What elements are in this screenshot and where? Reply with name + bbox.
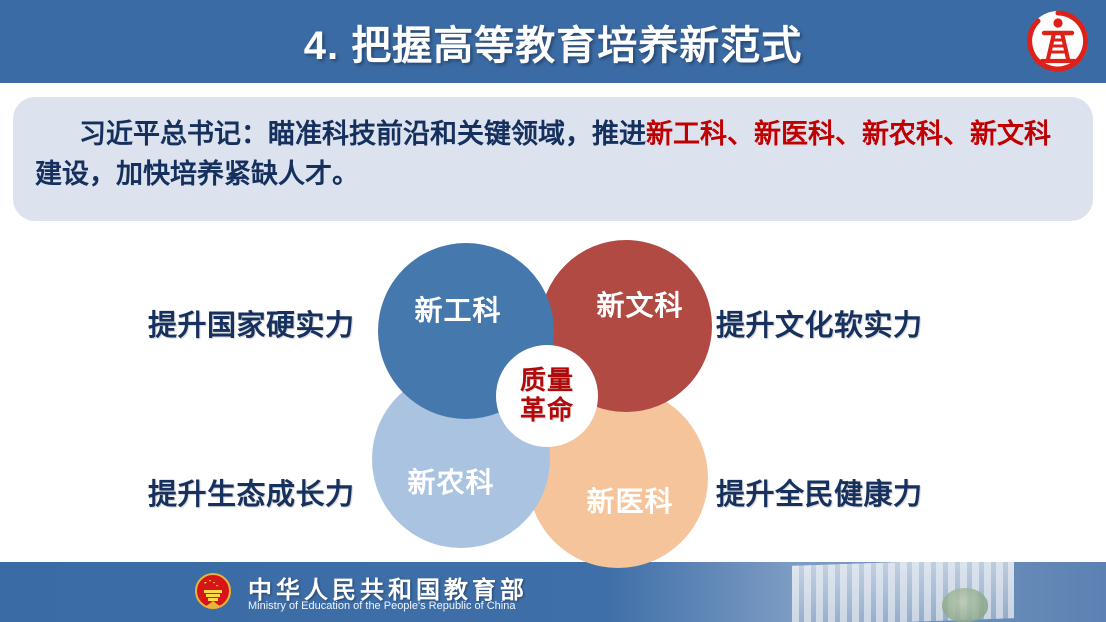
- quote-suffix: 建设，加快培养紧缺人才。: [35, 159, 359, 189]
- side-label-eco-growth: 提升生态成长力: [148, 471, 355, 513]
- tower-emblem-logo: [1024, 7, 1092, 75]
- diagram-core-quality-revolution: 质量 革命: [496, 345, 598, 447]
- slide-footer: 中华人民共和国教育部 Ministry of Education of the …: [0, 562, 1106, 622]
- quote-prefix: 习近平总书记：瞄准科技前沿和关键领域，推进: [79, 119, 646, 149]
- circle-label-new-agriculture: 新农科: [407, 461, 494, 501]
- circle-label-new-engineering: 新工科: [414, 289, 501, 329]
- circle-label-new-medicine: 新医科: [586, 480, 673, 520]
- quote-panel: 习近平总书记：瞄准科技前沿和关键领域，推进新工科、新医科、新农科、新文科建设，加…: [13, 97, 1093, 221]
- quote-text: 习近平总书记：瞄准科技前沿和关键领域，推进新工科、新医科、新农科、新文科建设，加…: [35, 115, 1071, 195]
- slide-header: 4. 把握高等教育培养新范式: [0, 0, 1106, 83]
- circle-label-new-liberal-arts: 新文科: [596, 284, 683, 324]
- side-label-public-health: 提升全民健康力: [716, 471, 923, 513]
- core-line-2: 革命: [520, 396, 574, 426]
- quote-highlight: 新工科、新医科、新农科、新文科: [646, 119, 1051, 149]
- four-disciplines-diagram: 提升国家硬实力 提升文化软实力 提升生态成长力 提升全民健康力 新文科 新医科 …: [0, 228, 1106, 548]
- footer-ministry-name-en: Ministry of Education of the People's Re…: [248, 600, 515, 612]
- tree-decoration-icon: [942, 588, 988, 622]
- core-line-1: 质量: [520, 366, 574, 396]
- page-title: 4. 把握高等教育培养新范式: [0, 0, 1106, 83]
- side-label-hard-power: 提升国家硬实力: [148, 302, 355, 344]
- side-label-soft-power: 提升文化软实力: [716, 302, 923, 344]
- national-emblem-icon: [192, 570, 234, 614]
